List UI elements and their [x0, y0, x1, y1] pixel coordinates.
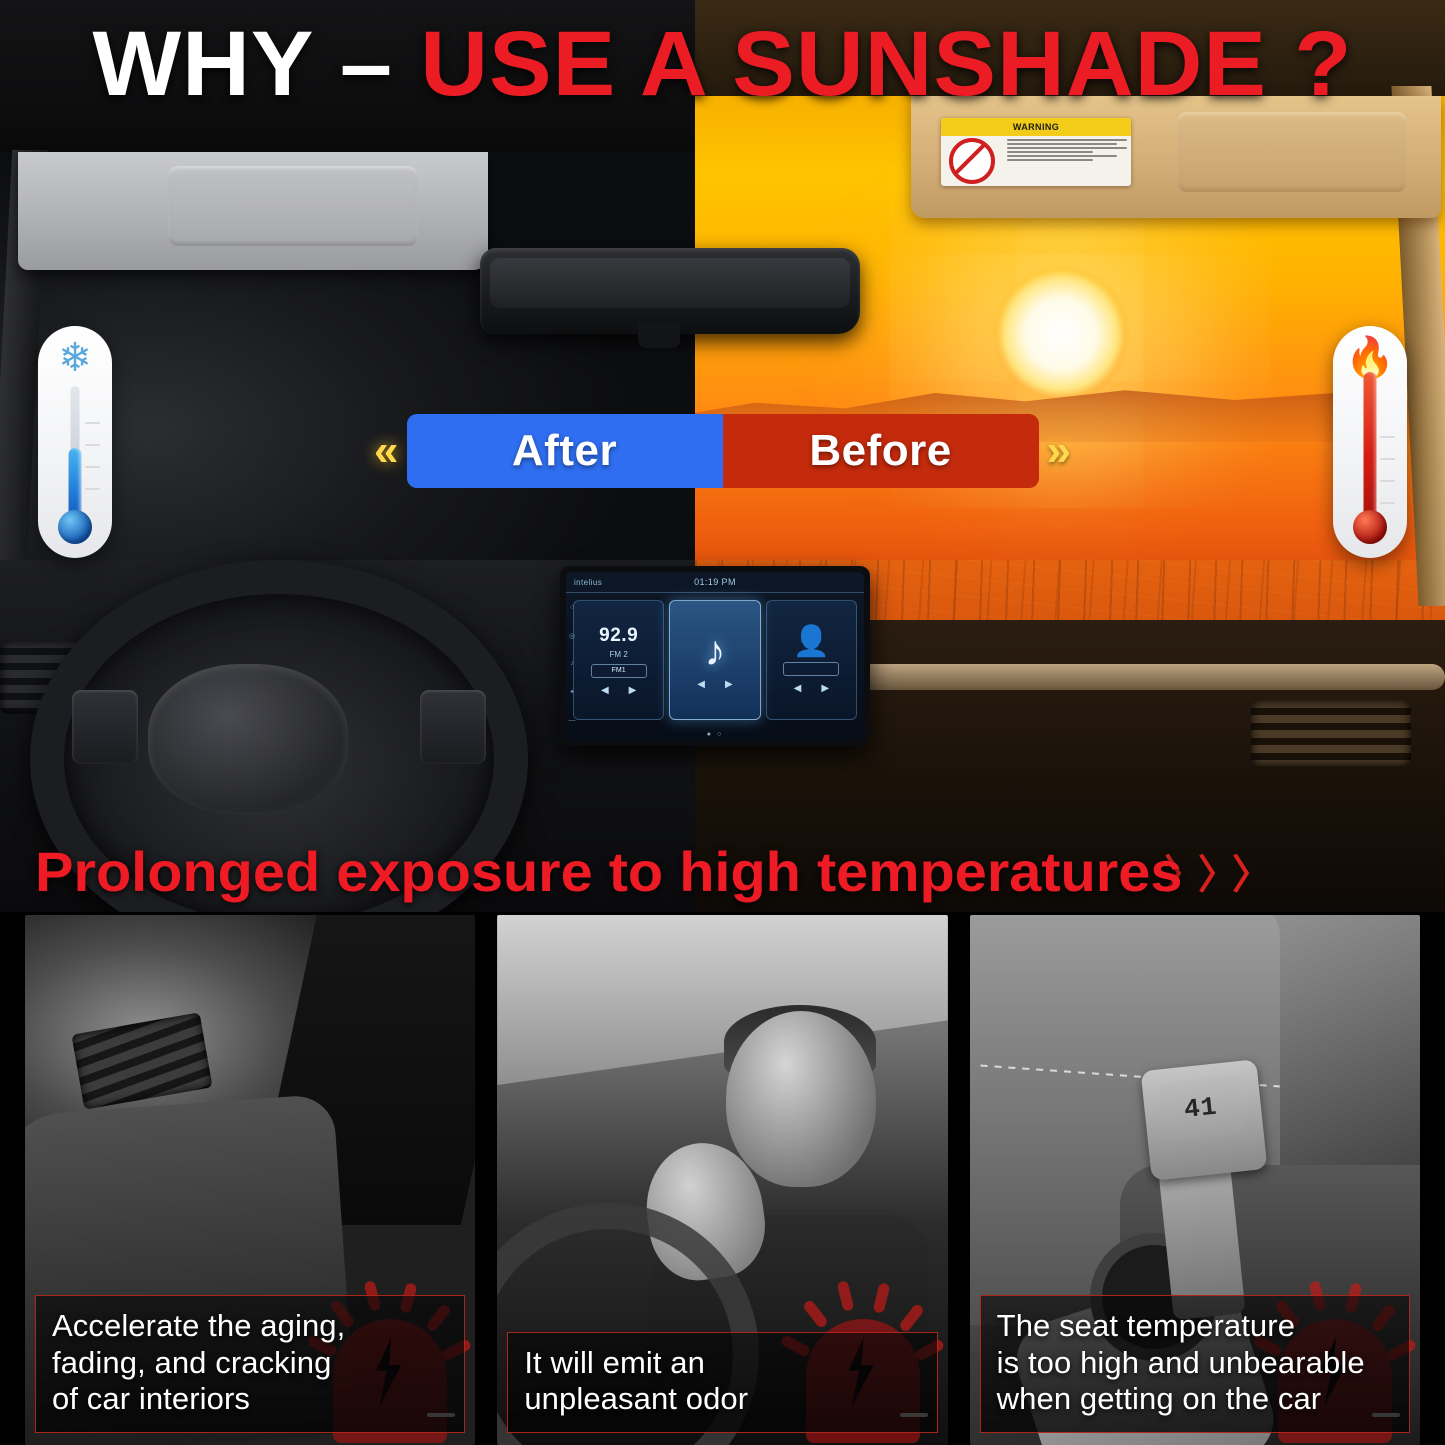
head-unit-side-buttons[interactable]: ○◎♪✦— — [566, 594, 579, 734]
visor-mirror-right — [1177, 112, 1407, 192]
sun-disc — [995, 268, 1127, 400]
head-unit-clock: 01:19 PM — [694, 577, 736, 587]
no-child-seat-icon — [941, 136, 1003, 186]
caption-line-2: is too high and unbearable — [997, 1345, 1395, 1382]
caption-line-2: fading, and cracking — [52, 1345, 450, 1382]
panel-caption: It will emit an unpleasant odor — [507, 1332, 937, 1433]
head-unit-status-bar: intelius 01:19 PM — [566, 572, 864, 593]
warning-text-lines — [1003, 136, 1131, 186]
ir-display: 41 — [1158, 1075, 1244, 1141]
page-title-red: USE A SUNSHADE ? — [420, 13, 1352, 115]
media-card[interactable]: ♪ ◀▶ — [669, 600, 760, 720]
hot-thermometer-bulb — [1353, 510, 1387, 544]
radio-preset-chip[interactable]: FM1 — [591, 664, 647, 678]
phone-nav-arrows[interactable]: ◀▶ — [794, 683, 829, 694]
consequence-panels: Accelerate the aging, fading, and cracki… — [0, 915, 1445, 1445]
chevron-left-icon: « — [366, 429, 406, 473]
before-after-badges: « After Before » — [0, 414, 1445, 488]
sun-visor-left — [18, 152, 488, 270]
phone-chip[interactable] — [783, 662, 839, 676]
after-badge[interactable]: After — [407, 414, 723, 488]
panel-unpleasant-odor: It will emit an unpleasant odor — [497, 915, 947, 1445]
radio-seek-arrows[interactable]: ◀▶ — [601, 685, 636, 696]
media-transport-arrows[interactable]: ◀▶ — [697, 679, 732, 690]
panel-caption: Accelerate the aging, fading, and cracki… — [35, 1295, 465, 1433]
phone-card[interactable]: 👤 ◀▶ — [766, 600, 857, 720]
panel-hot-seat: 41 The seat temperature is too high and … — [970, 915, 1420, 1445]
page-indicator-dots[interactable]: ● ○ — [566, 731, 864, 738]
infotainment-head-unit[interactable]: ○◎♪✦— intelius 01:19 PM 92.9 FM 2 FM1 ◀▶ — [560, 566, 870, 746]
subhead-banner: Prolonged exposure to high temperatures … — [0, 828, 1445, 914]
caption-line-3: of car interiors — [52, 1381, 450, 1418]
warning-title: WARNING — [941, 118, 1131, 136]
airbag-hub — [148, 664, 348, 814]
ir-reading: 41 — [1182, 1092, 1218, 1125]
wheel-buttons-left — [72, 690, 138, 764]
caption-line-1: Accelerate the aging, — [52, 1308, 450, 1345]
head-unit-brand: intelius — [574, 578, 602, 587]
subhead-text: Prolonged exposure to high temperatures — [0, 839, 1182, 904]
cold-thermometer-bulb — [58, 510, 92, 544]
head-unit-screen[interactable]: ○◎♪✦— intelius 01:19 PM 92.9 FM 2 FM1 ◀▶ — [566, 572, 864, 740]
infographic-root: WARNING — [0, 0, 1445, 1445]
panel-interior-aging: Accelerate the aging, fading, and cracki… — [25, 915, 475, 1445]
caption-line-1: It will emit an — [524, 1345, 922, 1382]
caption-line-2: unpleasant odor — [524, 1381, 922, 1418]
air-vent-right — [1251, 700, 1411, 766]
airbag-warning-label: WARNING — [941, 118, 1131, 186]
head-unit-cards: 92.9 FM 2 FM1 ◀▶ ♪ ◀▶ 👤 — [566, 593, 864, 727]
caption-line-3: when getting on the car — [997, 1381, 1395, 1418]
mirror-glass — [490, 258, 850, 308]
music-note-icon: ♪ — [704, 630, 725, 672]
visor-mirror-nub — [183, 176, 199, 238]
page-title: WHY – USE A SUNSHADE ? — [0, 18, 1445, 110]
snowflake-icon: ❄ — [38, 338, 112, 378]
infrared-thermometer-gun: 41 — [1140, 1059, 1267, 1181]
chevron-right-icon: » — [1039, 429, 1079, 473]
mirror-stem — [638, 322, 680, 348]
radio-card[interactable]: 92.9 FM 2 FM1 ◀▶ — [573, 600, 664, 720]
caption-line-1: The seat temperature — [997, 1308, 1395, 1345]
rearview-mirror — [480, 248, 860, 334]
panel-caption: The seat temperature is too high and unb… — [980, 1295, 1410, 1433]
radio-frequency: 92.9 — [599, 625, 638, 647]
wheel-buttons-right — [420, 690, 486, 764]
page-title-white: WHY – — [93, 13, 394, 115]
before-badge[interactable]: Before — [723, 414, 1039, 488]
radio-band: FM 2 — [610, 650, 628, 659]
hero-comparison-image: WARNING — [0, 0, 1445, 912]
contact-person-icon: 👤 — [793, 627, 830, 657]
